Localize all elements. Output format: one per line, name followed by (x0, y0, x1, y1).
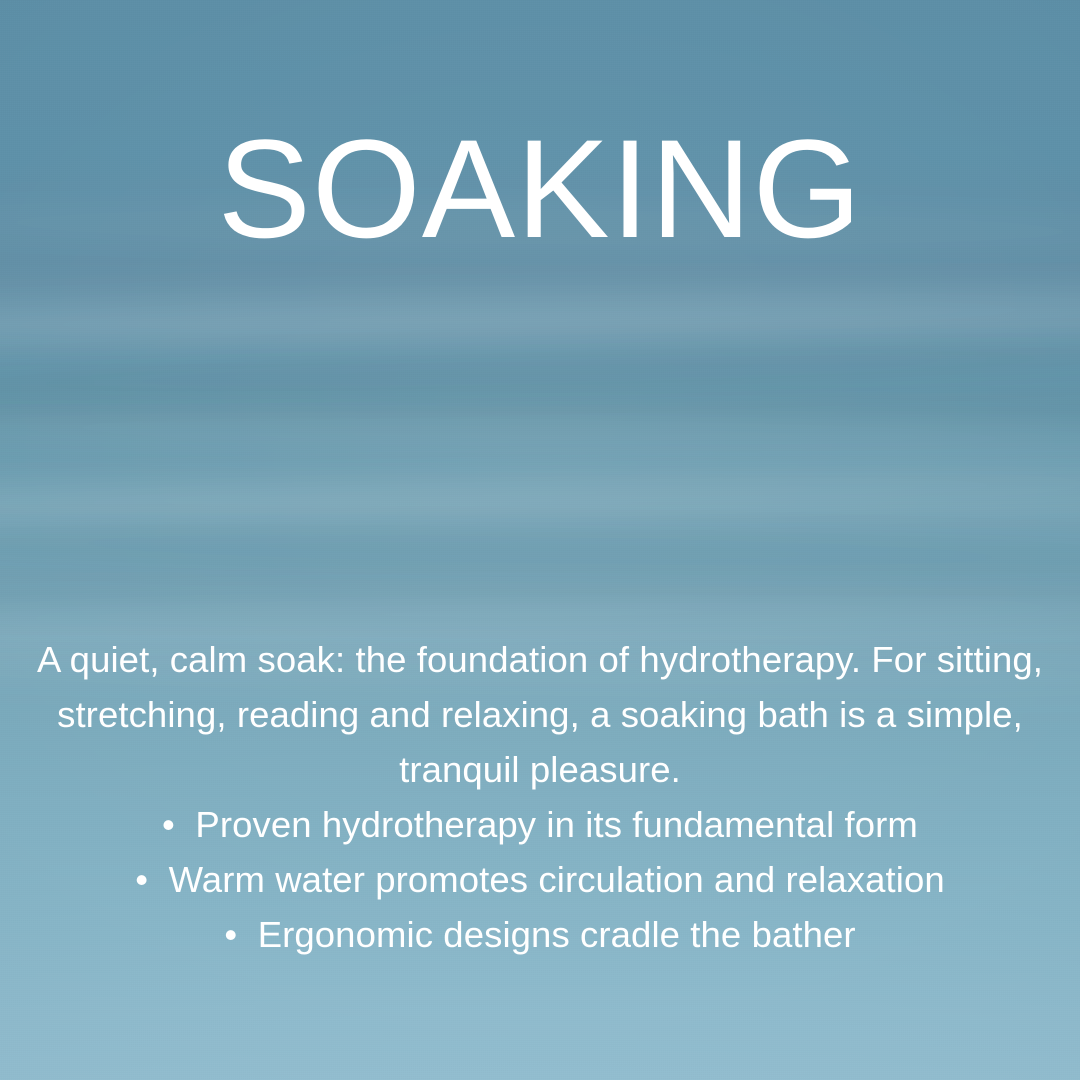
soaking-promo-card: SOAKING A quiet, calm soak: the foundati… (0, 0, 1080, 1080)
list-item: • Warm water promotes circulation and re… (26, 852, 1054, 907)
description-paragraph: A quiet, calm soak: the foundation of hy… (26, 632, 1054, 797)
list-item-label: Warm water promotes circulation and rela… (169, 859, 945, 900)
list-item: • Proven hydrotherapy in its fundamental… (26, 797, 1054, 852)
bullet-marker-icon: • (162, 804, 185, 845)
list-item: • Ergonomic designs cradle the bather (26, 907, 1054, 962)
list-item-label: Proven hydrotherapy in its fundamental f… (195, 804, 918, 845)
card-content: SOAKING A quiet, calm soak: the foundati… (0, 0, 1080, 1080)
bullet-marker-icon: • (224, 914, 247, 955)
page-title: SOAKING (0, 118, 1080, 261)
feature-bullet-list: • Proven hydrotherapy in its fundamental… (26, 797, 1054, 962)
bullet-marker-icon: • (135, 859, 158, 900)
card-body: A quiet, calm soak: the foundation of hy… (26, 632, 1054, 962)
list-item-label: Ergonomic designs cradle the bather (258, 914, 856, 955)
